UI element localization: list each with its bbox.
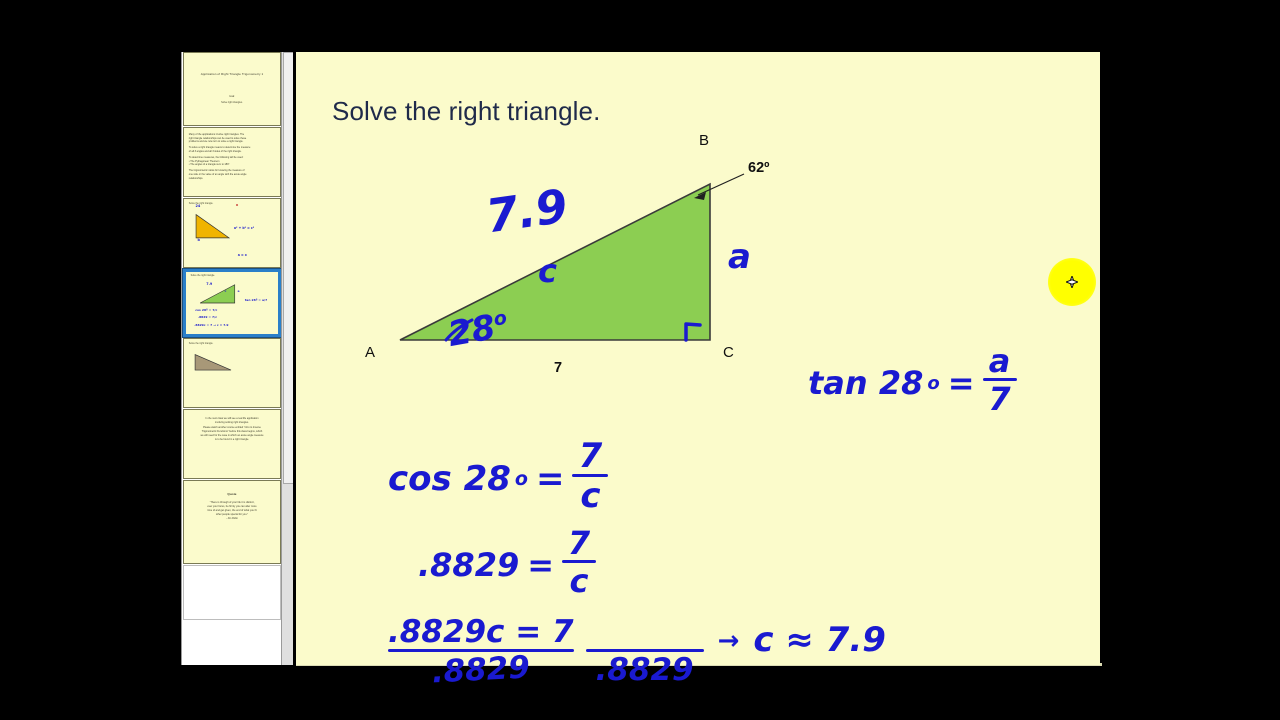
handwriting-angle-a-28: 28o xyxy=(445,305,511,355)
thumb-scribble-solve: .8829c = 7 → c ≈ 7.9 xyxy=(194,323,228,327)
thumb-scribble-0: 24 xyxy=(196,204,201,209)
decimal-equals: = xyxy=(527,546,554,584)
thumb-scribble-c: c xyxy=(225,289,227,293)
sidebar-thumb-worked-example-slide[interactable]: Solve the right triangle. 24 x b a² + b²… xyxy=(183,198,281,268)
thumb-scribble-cos: cos 28º = 7/c xyxy=(195,308,217,312)
thumb-quote-body: “There is through of your life it is dis… xyxy=(193,501,272,521)
thumb-scribble-tan: tan 28º = a/7 xyxy=(245,298,267,302)
thumb-body-text-2: In the next class we will see a real lif… xyxy=(189,417,275,442)
thumb-scribble-hyp: 7.9 xyxy=(206,282,212,287)
handwriting-cos-equation: cos 28o = 7 c xyxy=(388,442,608,517)
angle-a-degree: o xyxy=(492,307,509,331)
handwriting-hypotenuse-value: 7.9 xyxy=(483,179,571,244)
tan-equals: = xyxy=(948,364,975,402)
handwriting-side-a: a xyxy=(728,237,751,277)
label-vertex-c: C xyxy=(723,344,734,361)
cos-fn: cos 28 xyxy=(388,459,511,499)
sidebar-thumb-blank-triangle-slide[interactable]: Solve the right triangle. xyxy=(183,338,281,408)
thumb-quote-heading: Quote xyxy=(190,492,275,497)
tan-degree: o xyxy=(927,373,939,394)
thumb-body-text: Many of the applications involve right t… xyxy=(189,133,275,181)
thumb-scribble-a: a xyxy=(238,289,240,293)
solve-numerator-left: .8829c = 7 xyxy=(388,618,574,647)
handwriting-tan-equation: tan 28o = a 7 xyxy=(808,348,1017,419)
handwriting-solve-equation: .8829c = 7 .8829 . .8829 → c ≈ 7.9 xyxy=(388,620,886,689)
thumb-subtitle-text: Solve right triangles. xyxy=(197,101,266,105)
thumb-scribble-2: b xyxy=(197,238,199,243)
decimal-denominator: c xyxy=(562,565,596,599)
sidebar-thumb-title-slide[interactable]: Application of Right Triangle Trigonomet… xyxy=(183,52,281,126)
tan-numerator: a xyxy=(983,346,1017,376)
solve-denominator-right: .8829 xyxy=(586,654,704,687)
sidebar-scrollbar-track[interactable] xyxy=(281,52,293,665)
label-vertex-a: A xyxy=(365,344,375,361)
cos-denominator: c xyxy=(572,479,608,515)
label-angle-b-62: 62º xyxy=(748,160,769,176)
solve-denominator-left: .8829 xyxy=(387,650,574,692)
handwriting-hypotenuse-name: c xyxy=(538,252,557,290)
tan-fn: tan 28 xyxy=(808,364,923,402)
thumb-subtitle-goal: Goal: xyxy=(197,95,266,99)
cos-numerator: 7 xyxy=(572,440,608,472)
label-base-7: 7 xyxy=(554,360,562,376)
thumb-title-text: Application of Right Triangle Trigonomet… xyxy=(190,72,275,77)
thumb-scribble-3: a² + b² = c² xyxy=(234,226,254,230)
thumb-triangle-tan xyxy=(184,339,280,407)
sidebar-thumb-blank[interactable] xyxy=(183,565,281,620)
cos-equals: = xyxy=(536,459,565,499)
label-vertex-b: B xyxy=(699,132,709,149)
tan-denominator: 7 xyxy=(983,383,1017,417)
cos-degree: o xyxy=(515,468,528,490)
thumb-scribble-4: a = x xyxy=(238,253,247,257)
angle-a-number: 28 xyxy=(445,307,499,355)
thumb-scribble-1: x xyxy=(236,203,238,208)
handwriting-decimal-equation: .8829 = 7 c xyxy=(418,530,596,601)
main-slide: Solve the right triangle. B A C 62º 7 7.… xyxy=(296,52,1100,665)
diamond-pointer-icon xyxy=(1066,276,1078,288)
sidebar-thumb-quote-slide[interactable]: Quote “There is through of your life it … xyxy=(183,480,281,564)
slide-thumbnail-sidebar[interactable]: Application of Right Triangle Trigonomet… xyxy=(181,52,293,665)
sidebar-thumb-current-slide[interactable]: Solve the right triangle. 7.9 c a tan 28… xyxy=(183,269,281,337)
sidebar-scrollbar-thumb[interactable] xyxy=(283,52,293,484)
solve-result: c ≈ 7.9 xyxy=(753,620,886,660)
thumb-scribble-dec: .8829 = 7/c xyxy=(198,315,217,319)
video-frame: Application of Right Triangle Trigonomet… xyxy=(0,0,1280,720)
slide-title: Solve the right triangle. xyxy=(332,96,600,127)
thumbnail-list[interactable]: Application of Right Triangle Trigonomet… xyxy=(182,52,283,665)
sidebar-thumb-application-text-slide[interactable]: In the next class we will see a real lif… xyxy=(183,409,281,479)
sidebar-thumb-objectives-slide[interactable]: Many of the applications involve right t… xyxy=(183,127,281,197)
decimal-numerator: 7 xyxy=(562,528,596,558)
decimal-lhs: .8829 xyxy=(418,546,519,584)
solve-arrow: → xyxy=(718,626,740,656)
